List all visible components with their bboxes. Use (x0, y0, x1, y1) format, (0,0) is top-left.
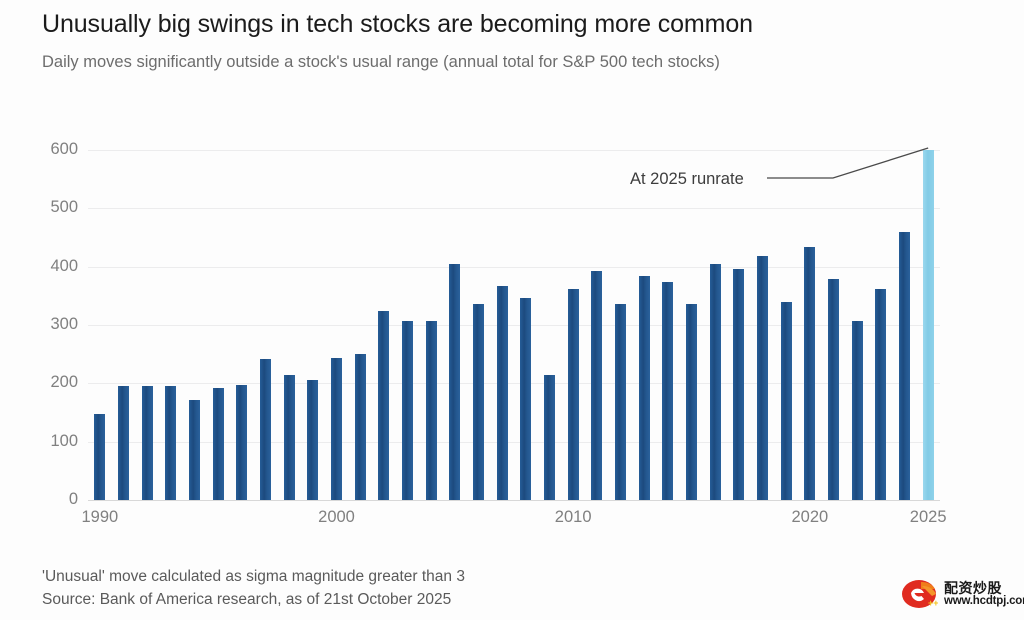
y-axis-tick-label: 500 (8, 198, 78, 217)
svg-text:+++: +++ (928, 598, 938, 608)
brand-url: www.hcdtpj.com (944, 595, 1024, 607)
bar-2009[interactable] (544, 375, 555, 500)
bar-2011[interactable] (591, 271, 602, 500)
bar-2024[interactable] (899, 232, 910, 500)
annotation-leader-line (0, 0, 1024, 620)
y-axis-tick-label: 100 (8, 432, 78, 451)
brand-e-icon: +++ (902, 576, 938, 612)
bar-2003[interactable] (402, 321, 413, 500)
x-axis-tick-label: 1990 (81, 508, 118, 527)
y-axis-tick-label: 200 (8, 373, 78, 392)
bar-1990[interactable] (94, 414, 105, 500)
bar-2001[interactable] (355, 354, 366, 500)
bar-2021[interactable] (828, 279, 839, 500)
bar-2018[interactable] (757, 256, 768, 500)
y-axis-tick-label: 600 (8, 140, 78, 159)
x-axis-tick-label: 2025 (910, 508, 947, 527)
bar-2012[interactable] (615, 304, 626, 500)
watermark-logo: +++ 配资炒股 www.hcdtpj.com (902, 572, 1024, 616)
footnote-definition: 'Unusual' move calculated as sigma magni… (42, 568, 465, 586)
bar-1999[interactable] (307, 380, 318, 500)
bar-2023[interactable] (875, 289, 886, 500)
bar-2015[interactable] (686, 304, 697, 500)
bar-1993[interactable] (165, 386, 176, 500)
bar-2006[interactable] (473, 304, 484, 500)
bar-2004[interactable] (426, 321, 437, 500)
bar-chart-plot: 0100200300400500600 19902000201020202025… (0, 0, 1024, 620)
bar-2010[interactable] (568, 289, 579, 500)
bar-2007[interactable] (497, 286, 508, 500)
x-axis-tick-label: 2010 (555, 508, 592, 527)
bar-1994[interactable] (189, 400, 200, 500)
bar-2008[interactable] (520, 298, 531, 500)
gridline (88, 208, 940, 209)
bar-2025[interactable] (923, 150, 934, 500)
y-axis-tick-label: 400 (8, 257, 78, 276)
bar-2014[interactable] (662, 282, 673, 500)
bar-2002[interactable] (378, 311, 389, 500)
watermark-text: 配资炒股 www.hcdtpj.com (944, 581, 1024, 608)
bar-2016[interactable] (710, 264, 721, 500)
annotation-at-2025-runrate: At 2025 runrate (630, 170, 744, 189)
bar-1992[interactable] (142, 386, 153, 500)
bar-1997[interactable] (260, 359, 271, 500)
bar-2017[interactable] (733, 269, 744, 500)
bar-2020[interactable] (804, 247, 815, 500)
bar-2013[interactable] (639, 276, 650, 500)
x-axis-tick-label: 2020 (791, 508, 828, 527)
bar-2000[interactable] (331, 358, 342, 500)
bar-1991[interactable] (118, 386, 129, 500)
y-axis-tick-label: 300 (8, 315, 78, 334)
bar-1995[interactable] (213, 388, 224, 500)
gridline (88, 150, 940, 151)
bar-2022[interactable] (852, 321, 863, 500)
x-axis-tick-label: 2000 (318, 508, 355, 527)
bar-2019[interactable] (781, 302, 792, 500)
chart-page: Unusually big swings in tech stocks are … (0, 0, 1024, 620)
x-axis-baseline (88, 500, 940, 501)
y-axis-tick-label: 0 (8, 490, 78, 509)
bar-1998[interactable] (284, 375, 295, 500)
bar-1996[interactable] (236, 385, 247, 501)
bar-2005[interactable] (449, 264, 460, 500)
footnote-source: Source: Bank of America research, as of … (42, 591, 451, 609)
brand-name-cn: 配资炒股 (944, 581, 1024, 596)
